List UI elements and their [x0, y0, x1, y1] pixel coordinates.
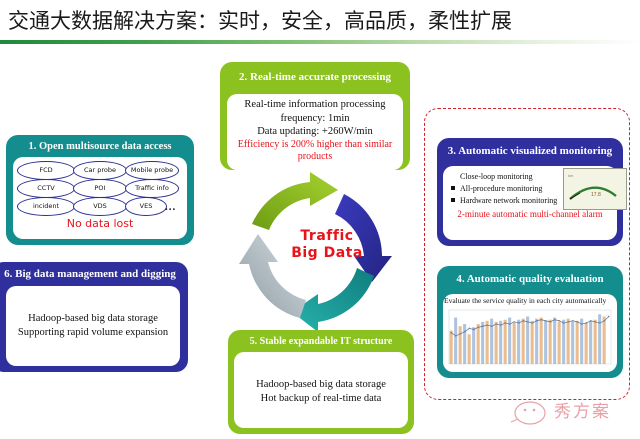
- source-ellipse[interactable]: POI: [73, 179, 127, 198]
- panel-2-highlight: Efficiency is 200% higher than similar p…: [227, 139, 403, 164]
- data-source-grid: FCD Car probe Mobile probe CCTV POI Traf…: [15, 161, 185, 216]
- panel-3-alarm-note: 2-minute automatic multi-channel alarm: [443, 208, 617, 220]
- panel-3-body: Close-loop monitoring All-procedure moni…: [443, 166, 617, 240]
- panel-6-line-2: Supporting rapid volume expansion: [6, 326, 180, 340]
- panel-6-header: 6. Big data management and digging: [0, 267, 188, 281]
- panel-5-line-2: Hot backup of real-time data: [234, 392, 408, 406]
- panel-2-body: Real-time information processing frequen…: [227, 94, 403, 170]
- panel-5-header: 5. Stable expandable IT structure: [228, 335, 414, 348]
- panel-5-body: Hadoop-based big data storage Hot backup…: [234, 352, 408, 428]
- source-ellipsis: ...: [165, 201, 176, 213]
- speed-gauge-chart: km 17.8: [563, 168, 627, 210]
- panel-2-line-1: Real-time information processing: [227, 98, 403, 112]
- watermark: 秀方案: [508, 398, 634, 432]
- slide-canvas: 交通大数据解决方案：实时，安全，高品质，柔性扩展: [0, 0, 640, 439]
- panel-6-body: Hadoop-based big data storage Supporting…: [6, 286, 180, 366]
- panel-big-data-management-and-digging[interactable]: 6. Big data management and digging Hadoo…: [0, 262, 188, 372]
- bullet-label: All-procedure monitoring: [460, 184, 542, 193]
- source-ellipse[interactable]: FCD: [17, 161, 75, 180]
- wechat-logo-icon: [508, 398, 552, 428]
- panel-automatic-visualized-monitoring[interactable]: 3. Automatic visualized monitoring Close…: [437, 138, 623, 246]
- panel-1-body: FCD Car probe Mobile probe CCTV POI Traf…: [13, 157, 187, 239]
- panel-2-line-2: frequency: 1min: [227, 112, 403, 126]
- panel-2-header: 2. Real-time accurate processing: [220, 70, 410, 84]
- source-ellipse[interactable]: Car probe: [73, 161, 127, 180]
- bullet-label: Hardware network monitoring: [460, 196, 557, 205]
- bullet-square-icon: [451, 186, 455, 190]
- svg-text:17.8: 17.8: [591, 192, 601, 198]
- panel-stable-expandable-it-structure[interactable]: 5. Stable expandable IT structure Hadoop…: [228, 330, 414, 434]
- panel-4-caption: Evaluate the service quality in each cit…: [443, 294, 617, 306]
- watermark-text: 秀方案: [554, 400, 611, 424]
- bullet-square-icon: [451, 198, 455, 202]
- panel-realtime-accurate-processing[interactable]: 2. Real-time accurate processing Real-ti…: [220, 62, 410, 170]
- panel-3-header: 3. Automatic visualized monitoring: [437, 144, 623, 158]
- source-ellipse[interactable]: Mobile probe: [125, 161, 179, 180]
- cycle-label-line1: Traffic: [272, 228, 382, 245]
- panel-4-header: 4. Automatic quality evaluation: [437, 272, 623, 286]
- cycle-label-line2: Big Data: [272, 245, 382, 262]
- panel-2-line-3: Data updating: +260W/min: [227, 125, 403, 139]
- title-divider: [0, 40, 640, 44]
- panel-6-line-1: Hadoop-based big data storage: [6, 312, 180, 326]
- traffic-big-data-cycle: Traffic Big Data: [222, 172, 414, 337]
- panel-1-header: 1. Open multisource data access: [6, 140, 194, 154]
- gauge-icon: km 17.8: [564, 169, 624, 207]
- bullet-square-icon: [451, 174, 455, 178]
- source-ellipse[interactable]: incident: [17, 197, 75, 216]
- source-ellipse[interactable]: VES: [125, 197, 167, 216]
- panel-open-multisource-data-access[interactable]: 1. Open multisource data access FCD Car …: [6, 135, 194, 245]
- source-ellipse[interactable]: VDS: [73, 197, 127, 216]
- page-title: 交通大数据解决方案：实时，安全，高品质，柔性扩展: [8, 4, 628, 38]
- svg-text:km: km: [568, 173, 574, 178]
- source-ellipse[interactable]: CCTV: [17, 179, 75, 198]
- cycle-label: Traffic Big Data: [272, 228, 382, 262]
- bar-line-chart-icon: [446, 307, 614, 367]
- source-ellipse[interactable]: Traffic info: [125, 179, 179, 198]
- panel-4-body: Evaluate the service quality in each cit…: [443, 294, 617, 372]
- quality-evaluation-chart: [446, 307, 614, 367]
- bullet-label: Close-loop monitoring: [460, 172, 533, 181]
- panel-5-line-1: Hadoop-based big data storage: [234, 378, 408, 392]
- panel-automatic-quality-evaluation[interactable]: 4. Automatic quality evaluation Evaluate…: [437, 266, 623, 378]
- no-data-lost-note: No data lost: [13, 217, 187, 230]
